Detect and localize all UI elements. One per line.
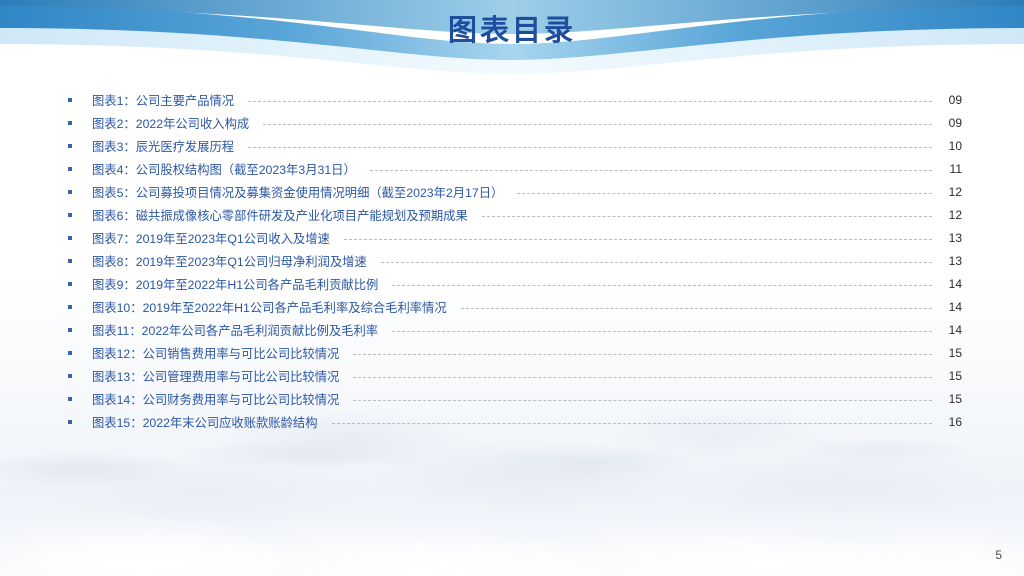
- toc-row[interactable]: 图表1：公司主要产品情况 09: [64, 88, 976, 111]
- bullet-icon: [64, 305, 92, 309]
- bullet-icon: [64, 397, 92, 401]
- leader-line: [332, 422, 933, 424]
- toc-row[interactable]: 图表15：2022年末公司应收账款账龄结构 16: [64, 410, 976, 433]
- leader-line: [392, 284, 932, 286]
- toc-page-number: 13: [942, 231, 976, 245]
- toc-page-number: 14: [942, 300, 976, 314]
- toc-page-number: 15: [942, 346, 976, 360]
- bullet-icon: [64, 213, 92, 217]
- toc-page-number: 12: [942, 208, 976, 222]
- toc-row[interactable]: 图表3：辰光医疗发展历程 10: [64, 134, 976, 157]
- toc-page-number: 09: [942, 116, 976, 130]
- toc-item-label: 图表2：2022年公司收入构成: [92, 114, 249, 132]
- leader-line: [344, 238, 932, 240]
- leader-line: [381, 261, 932, 263]
- bullet-icon: [64, 282, 92, 286]
- toc-row[interactable]: 图表10：2019年至2022年H1公司各产品毛利率及综合毛利率情况 14: [64, 295, 976, 318]
- bullet-icon: [64, 351, 92, 355]
- bullet-icon: [64, 98, 92, 102]
- bullet-icon: [64, 121, 92, 125]
- page-title: 图表目录: [0, 0, 1024, 62]
- toc-page-number: 15: [942, 392, 976, 406]
- leader-line: [517, 192, 932, 194]
- toc-page-number: 12: [942, 185, 976, 199]
- toc-row[interactable]: 图表4：公司股权结构图（截至2023年3月31日） 11: [64, 157, 976, 180]
- toc-page-number: 09: [942, 93, 976, 107]
- leader-line: [263, 123, 932, 125]
- slide: 图表目录 图表1：公司主要产品情况 09 图表2：2022年公司收入构成 09 …: [0, 0, 1024, 576]
- toc-item-label: 图表5：公司募投项目情况及募集资金使用情况明细（截至2023年2月17日）: [92, 183, 503, 201]
- toc-page-number: 15: [942, 369, 976, 383]
- toc-row[interactable]: 图表8：2019年至2023年Q1公司归母净利润及增速 13: [64, 249, 976, 272]
- toc-page-number: 14: [942, 323, 976, 337]
- toc-row[interactable]: 图表6：磁共振成像核心零部件研发及产业化项目产能规划及预期成果 12: [64, 203, 976, 226]
- toc-page-number: 13: [942, 254, 976, 268]
- bullet-icon: [64, 374, 92, 378]
- toc-page-number: 14: [942, 277, 976, 291]
- toc-row[interactable]: 图表7：2019年至2023年Q1公司收入及增速 13: [64, 226, 976, 249]
- toc-row[interactable]: 图表14：公司财务费用率与可比公司比较情况 15: [64, 387, 976, 410]
- leader-line: [248, 146, 932, 148]
- bullet-icon: [64, 236, 92, 240]
- toc-item-label: 图表6：磁共振成像核心零部件研发及产业化项目产能规划及预期成果: [92, 206, 468, 224]
- leader-line: [482, 215, 932, 217]
- leader-line: [353, 353, 932, 355]
- toc-item-label: 图表4：公司股权结构图（截至2023年3月31日）: [92, 160, 356, 178]
- toc-item-label: 图表10：2019年至2022年H1公司各产品毛利率及综合毛利率情况: [92, 298, 447, 316]
- toc-page-number: 11: [942, 162, 976, 176]
- leader-line: [370, 169, 932, 171]
- bullet-icon: [64, 167, 92, 171]
- toc-row[interactable]: 图表9：2019年至2022年H1公司各产品毛利贡献比例 14: [64, 272, 976, 295]
- leader-line: [353, 376, 932, 378]
- toc-item-label: 图表14：公司财务费用率与可比公司比较情况: [92, 390, 339, 408]
- toc-item-label: 图表12：公司销售费用率与可比公司比较情况: [92, 344, 339, 362]
- toc-item-label: 图表3：辰光医疗发展历程: [92, 137, 234, 155]
- toc-item-label: 图表9：2019年至2022年H1公司各产品毛利贡献比例: [92, 275, 378, 293]
- leader-line: [353, 399, 932, 401]
- toc-row[interactable]: 图表13：公司管理费用率与可比公司比较情况 15: [64, 364, 976, 387]
- bullet-icon: [64, 144, 92, 148]
- toc-row[interactable]: 图表11：2022年公司各产品毛利润贡献比例及毛利率 14: [64, 318, 976, 341]
- toc-page-number: 16: [942, 415, 976, 429]
- bullet-icon: [64, 328, 92, 332]
- toc-page-number: 10: [942, 139, 976, 153]
- toc-item-label: 图表11：2022年公司各产品毛利润贡献比例及毛利率: [92, 321, 378, 339]
- toc-list: 图表1：公司主要产品情况 09 图表2：2022年公司收入构成 09 图表3：辰…: [64, 88, 976, 433]
- toc-item-label: 图表7：2019年至2023年Q1公司收入及增速: [92, 229, 330, 247]
- toc-row[interactable]: 图表2：2022年公司收入构成 09: [64, 111, 976, 134]
- bullet-icon: [64, 190, 92, 194]
- toc-row[interactable]: 图表5：公司募投项目情况及募集资金使用情况明细（截至2023年2月17日） 12: [64, 180, 976, 203]
- toc-row[interactable]: 图表12：公司销售费用率与可比公司比较情况 15: [64, 341, 976, 364]
- bullet-icon: [64, 420, 92, 424]
- toc-item-label: 图表1：公司主要产品情况: [92, 91, 234, 109]
- leader-line: [248, 100, 932, 102]
- slide-number: 5: [995, 548, 1002, 562]
- bullet-icon: [64, 259, 92, 263]
- toc-item-label: 图表13：公司管理费用率与可比公司比较情况: [92, 367, 339, 385]
- toc-item-label: 图表15：2022年末公司应收账款账龄结构: [92, 413, 318, 431]
- toc-item-label: 图表8：2019年至2023年Q1公司归母净利润及增速: [92, 252, 367, 270]
- leader-line: [392, 330, 932, 332]
- leader-line: [461, 307, 932, 309]
